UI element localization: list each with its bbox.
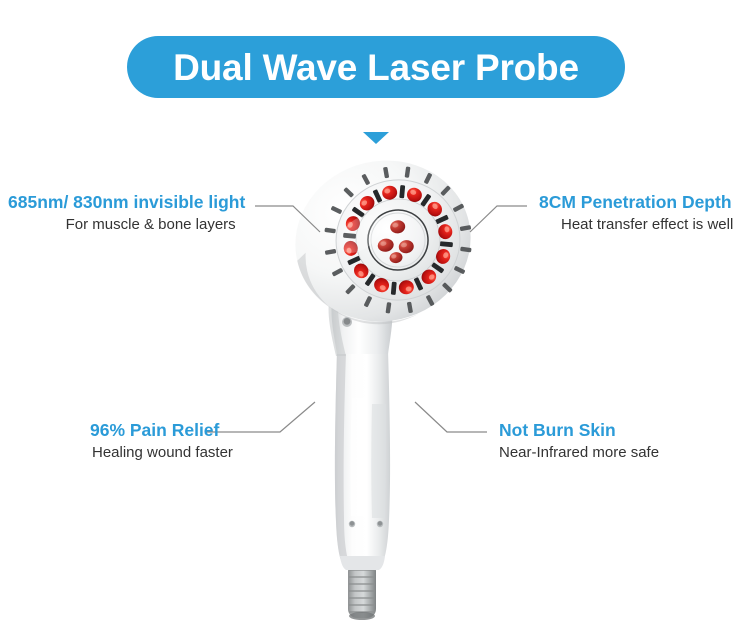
callout-wavelength-subtitle: For muscle & bone layers bbox=[8, 216, 245, 234]
callout-wavelength-heading: 685nm/ 830nm invisible light bbox=[8, 192, 245, 212]
callout-wavelength: 685nm/ 830nm invisible light For muscle … bbox=[8, 192, 245, 234]
probe-handle bbox=[335, 350, 390, 570]
callout-pain-relief: 96% Pain Relief Healing wound faster bbox=[90, 420, 233, 462]
callout-pain-relief-subtitle: Healing wound faster bbox=[90, 444, 233, 462]
callout-not-burn: Not Burn Skin Near-Infrared more safe bbox=[499, 420, 659, 462]
callout-not-burn-heading: Not Burn Skin bbox=[499, 420, 659, 440]
callout-pain-relief-heading: 96% Pain Relief bbox=[90, 420, 233, 440]
infographic-canvas: Dual Wave Laser Probe bbox=[0, 0, 750, 641]
cable-strain-relief bbox=[348, 562, 376, 620]
callout-penetration: 8CM Penetration Depth Heat transfer effe… bbox=[539, 192, 733, 234]
callout-penetration-subtitle: Heat transfer effect is well bbox=[539, 216, 733, 234]
neck-screw bbox=[342, 317, 352, 327]
callout-not-burn-subtitle: Near-Infrared more safe bbox=[499, 444, 659, 462]
callout-penetration-heading: 8CM Penetration Depth bbox=[539, 192, 733, 212]
product-illustration bbox=[0, 0, 750, 641]
